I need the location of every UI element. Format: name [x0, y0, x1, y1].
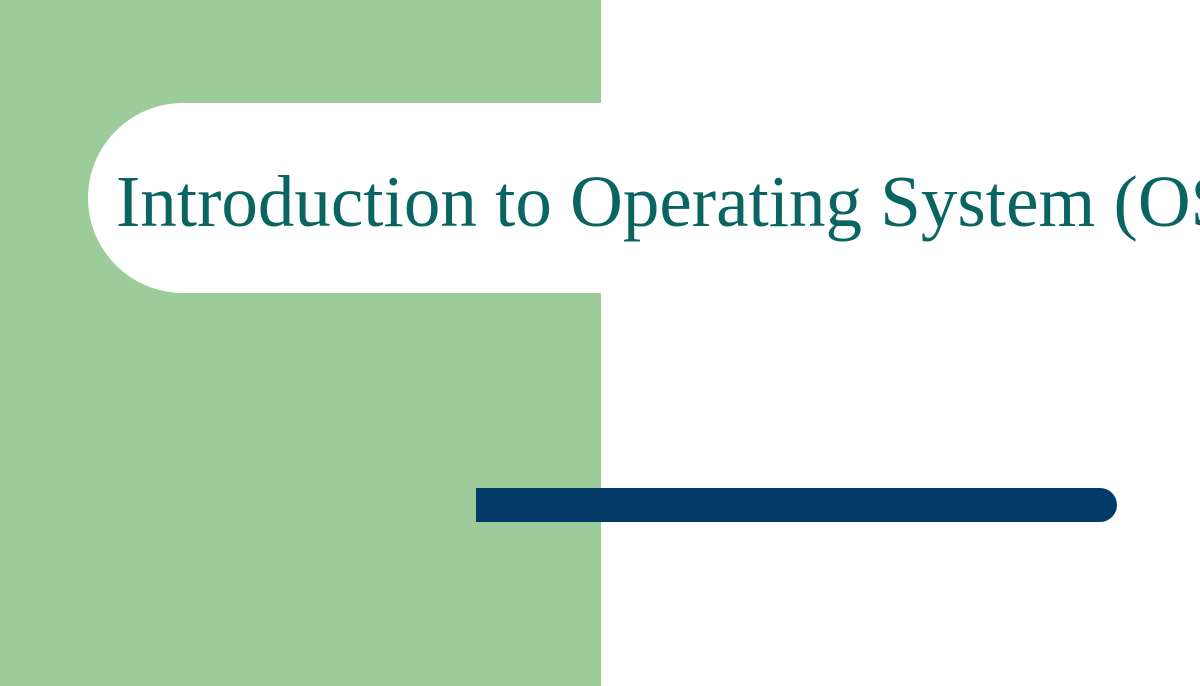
slide-title: Introduction to Operating System (OS)	[116, 152, 1176, 252]
presentation-slide: Introduction to Operating System (OS)	[0, 0, 1200, 686]
navy-accent-bar	[476, 488, 1117, 522]
